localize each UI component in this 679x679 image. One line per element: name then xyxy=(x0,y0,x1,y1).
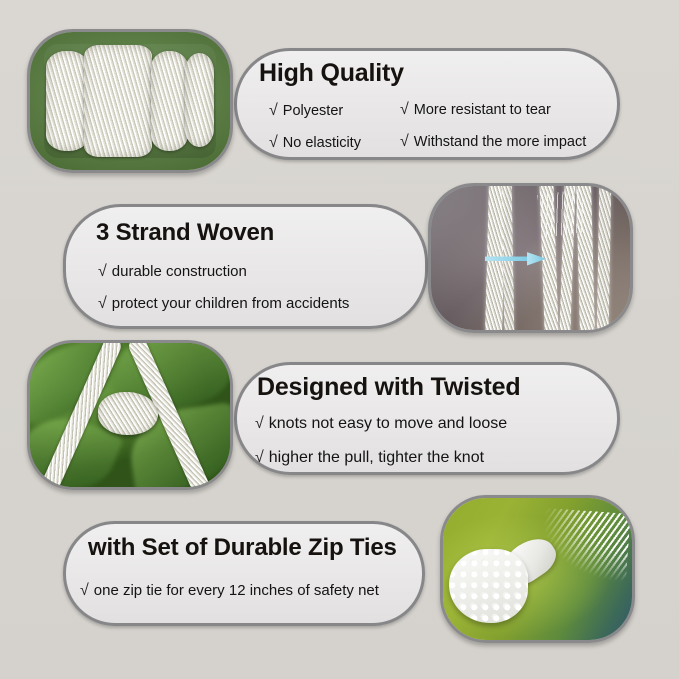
feature-bullet-label: Withstand the more impact xyxy=(414,134,586,150)
feature-bullet-label: No elasticity xyxy=(283,135,361,151)
product-feature-infographic: High Quality √ Polyester √ No elasticity… xyxy=(0,0,679,679)
feature-bullet-label: durable construction xyxy=(112,263,247,280)
section-panel-designed-with-twisted: Designed with Twisted √ knots not easy t… xyxy=(234,362,620,475)
feature-bullet-label: protect your children from accidents xyxy=(112,295,350,312)
feature-bullet-label: knots not easy to move and loose xyxy=(269,415,507,433)
right-arrow-icon xyxy=(485,249,549,269)
check-icon: √ xyxy=(80,583,89,599)
section-title: 3 Strand Woven xyxy=(96,219,274,247)
coil-segment xyxy=(84,45,153,157)
section-title: High Quality xyxy=(259,59,404,88)
zip-tie-heads xyxy=(449,549,528,623)
check-icon: √ xyxy=(400,134,409,150)
feature-bullet-label: higher the pull, tighter the knot xyxy=(269,449,484,467)
feature-bullet: √ higher the pull, tighter the knot xyxy=(255,449,484,467)
section-panel-high-quality: High Quality √ Polyester √ No elasticity… xyxy=(234,48,620,160)
feature-bullet: √ protect your children from accidents xyxy=(98,295,349,312)
check-icon: √ xyxy=(255,416,264,432)
coil-segment xyxy=(151,51,189,151)
check-icon: √ xyxy=(98,264,107,280)
section-panel-three-strand-woven: 3 Strand Woven √ durable construction √ … xyxy=(63,204,428,329)
rope-knot xyxy=(98,392,158,435)
rope-coil-image-panel xyxy=(27,29,233,173)
section-title: with Set of Durable Zip Ties xyxy=(88,534,397,562)
check-icon: √ xyxy=(98,296,107,312)
feature-bullet-label: Polyester xyxy=(283,103,343,119)
frayed-fibers xyxy=(538,189,587,238)
rope-coil-photo xyxy=(30,32,230,170)
zip-ties-image-panel xyxy=(440,495,635,643)
feature-bullet: √ More resistant to tear xyxy=(400,102,551,118)
rope-strands-image-panel xyxy=(428,183,633,333)
feature-bullet-label: one zip tie for every 12 inches of safet… xyxy=(94,582,379,599)
feature-bullet: √ Polyester xyxy=(269,103,343,119)
check-icon: √ xyxy=(269,135,278,151)
coil-segment xyxy=(46,51,89,151)
feature-bullet: √ durable construction xyxy=(98,263,247,280)
check-icon: √ xyxy=(269,103,278,119)
rope-knot-image-panel xyxy=(27,340,233,490)
rope-strands-photo xyxy=(431,186,630,330)
feature-bullet-label: More resistant to tear xyxy=(414,102,551,118)
rope-knot-photo xyxy=(30,343,230,487)
coil-segment xyxy=(185,53,214,146)
section-panel-durable-zip-ties: with Set of Durable Zip Ties √ one zip t… xyxy=(63,521,425,626)
feature-bullet: √ knots not easy to move and loose xyxy=(255,415,507,433)
rope-coil-graphic xyxy=(44,44,216,158)
section-title: Designed with Twisted xyxy=(257,373,520,402)
check-icon: √ xyxy=(255,450,264,466)
feature-bullet: √ one zip tie for every 12 inches of saf… xyxy=(80,582,379,599)
feature-bullet: √ Withstand the more impact xyxy=(400,134,586,150)
zip-ties-photo xyxy=(443,498,632,640)
feature-bullet: √ No elasticity xyxy=(269,135,361,151)
check-icon: √ xyxy=(400,102,409,118)
